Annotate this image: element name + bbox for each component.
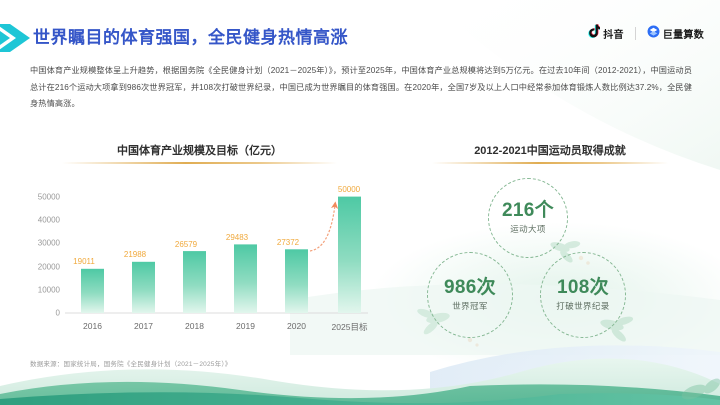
growth-arrow-annotation <box>310 205 335 251</box>
stat-number-sports-categories: 216个 <box>502 201 554 221</box>
stat-circle-world-records: 108次 打破世界纪录 <box>540 252 626 338</box>
stat-circle-sports-categories: 216个 运动大项 <box>488 178 568 258</box>
intro-paragraph: 中国体育产业规模整体呈上升趋势，根据国务院《全民健身计划（2021－2025年）… <box>30 63 692 113</box>
y-tick-50000: 50000 <box>22 192 60 201</box>
achievements-section-title: 2012-2021中国运动员取得成就 <box>400 142 700 158</box>
bar-value-2017: 21988 <box>124 250 146 259</box>
douyin-note-icon <box>587 24 600 43</box>
x-label-2016: 2016 <box>83 321 102 331</box>
bar-value-2020: 27372 <box>277 238 299 247</box>
chart-canvas <box>22 165 377 345</box>
brand-divider <box>635 27 636 40</box>
x-label-2018: 2018 <box>185 321 204 331</box>
brand-bar: 抖音 巨量算数 <box>587 24 704 43</box>
y-tick-20000: 20000 <box>22 262 60 271</box>
brand-douyin: 抖音 <box>587 24 624 43</box>
bar-2018 <box>183 251 206 313</box>
page-title: 世界瞩目的体育强国，全民健身热情高涨 <box>33 23 348 48</box>
stat-caption-world-records: 打破世界纪录 <box>556 300 609 312</box>
x-label-2025-target: 2025目标 <box>332 321 368 333</box>
bar-value-2019: 29483 <box>226 233 248 242</box>
data-source-note: 数据来源：国家统计局，国务院《全民健身计划（2021－2025年）》 <box>30 358 231 368</box>
x-label-2019: 2019 <box>236 321 255 331</box>
stat-number-world-records: 108次 <box>557 278 609 298</box>
bar-2025-target <box>338 197 361 313</box>
bar-2019 <box>234 244 257 313</box>
brand-juliang: 巨量算数 <box>647 25 704 43</box>
stat-circle-world-championships: 986次 世界冠军 <box>427 252 513 338</box>
chart-title-underline <box>62 162 337 164</box>
page-header: 世界瞩目的体育强国，全民健身热情高涨 抖音 巨量算数 <box>0 22 720 56</box>
juliang-suanshu-icon <box>647 25 660 43</box>
y-tick-40000: 40000 <box>22 216 60 225</box>
stat-number-world-championships: 986次 <box>444 278 496 298</box>
stat-caption-sports-categories: 运动大项 <box>510 223 546 235</box>
y-tick-10000: 10000 <box>22 285 60 294</box>
x-label-2017: 2017 <box>134 321 153 331</box>
chart-section-title: 中国体育产业规模及目标（亿元） <box>22 142 377 158</box>
bar-2020 <box>285 249 308 313</box>
brand-label-juliang: 巨量算数 <box>663 26 704 41</box>
y-tick-0: 0 <box>22 309 60 318</box>
brand-label-douyin: 抖音 <box>603 26 624 41</box>
bar-value-2025-target: 50000 <box>338 185 360 194</box>
bar-2016 <box>81 269 104 313</box>
x-label-2020: 2020 <box>287 321 306 331</box>
stat-caption-world-championships: 世界冠军 <box>452 300 488 312</box>
achievements-circles: 216个 运动大项 986次 世界冠军 108次 打破世界纪录 <box>400 160 700 360</box>
bar-value-2018: 26579 <box>175 240 197 249</box>
bar-2017 <box>132 262 155 313</box>
industry-scale-bar-chart: 0 10000 20000 30000 40000 50000 19011 21… <box>22 165 377 345</box>
bar-value-2016: 19011 <box>73 257 95 266</box>
y-tick-30000: 30000 <box>22 239 60 248</box>
